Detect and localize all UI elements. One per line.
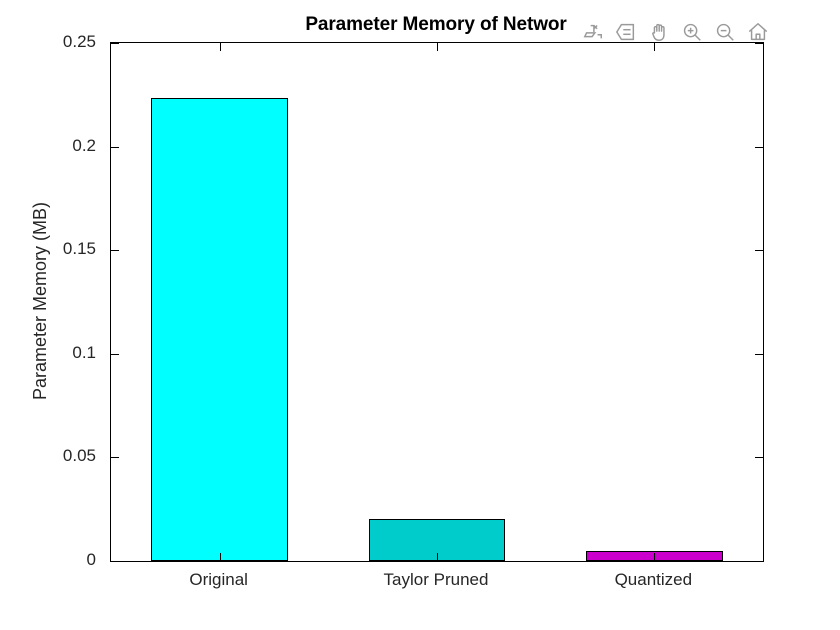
- y-tick-label: 0.15: [0, 239, 96, 259]
- y-axis-tick: [755, 147, 763, 148]
- y-axis-tick: [755, 457, 763, 458]
- y-axis-tick: [111, 147, 119, 148]
- y-axis-tick: [755, 561, 763, 562]
- y-axis-tick: [111, 561, 119, 562]
- zoom-out-icon[interactable]: [710, 18, 739, 47]
- x-axis-tick: [437, 553, 438, 561]
- y-axis-title: Parameter Memory (MB): [30, 202, 51, 400]
- y-tick-label: 0: [0, 550, 96, 570]
- y-axis-tick: [111, 43, 119, 44]
- y-axis-tick: [755, 354, 763, 355]
- x-tick-label-quantized: Quantized: [615, 570, 693, 590]
- figure-canvas: Parameter Memory of Networ: [0, 0, 840, 630]
- x-axis-tick: [654, 553, 655, 561]
- y-tick-label: 0.05: [0, 446, 96, 466]
- home-icon[interactable]: [743, 18, 772, 47]
- pan-icon[interactable]: [644, 18, 673, 47]
- x-axis-tick: [220, 43, 221, 51]
- x-axis-tick: [437, 43, 438, 51]
- export-icon[interactable]: [578, 18, 607, 47]
- y-axis-tick: [755, 250, 763, 251]
- x-axis-tick: [220, 553, 221, 561]
- plot-axes: [110, 42, 764, 562]
- datatip-icon[interactable]: [611, 18, 640, 47]
- zoom-in-icon[interactable]: [677, 18, 706, 47]
- y-tick-label: 0.2: [0, 136, 96, 156]
- y-tick-label: 0.1: [0, 343, 96, 363]
- axes-toolbar[interactable]: [578, 17, 772, 47]
- bar-original[interactable]: [151, 98, 288, 561]
- x-tick-label-taylor-pruned: Taylor Pruned: [384, 570, 489, 590]
- y-axis-tick: [111, 457, 119, 458]
- y-axis-tick: [111, 354, 119, 355]
- y-tick-label: 0.25: [0, 32, 96, 52]
- x-tick-label-original: Original: [189, 570, 248, 590]
- plot-area: [111, 43, 763, 561]
- y-axis-tick: [111, 250, 119, 251]
